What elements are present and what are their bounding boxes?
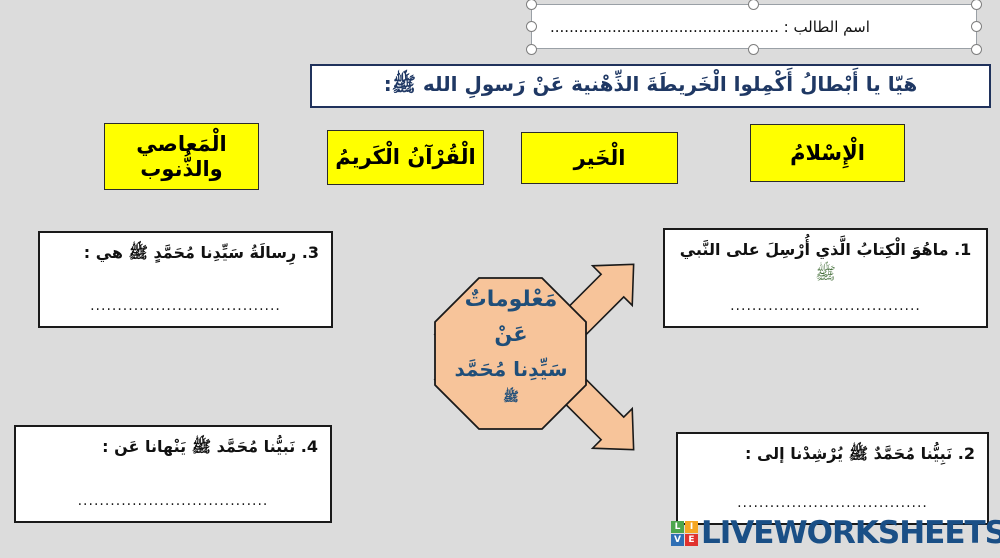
resize-handle-bottom-center[interactable] xyxy=(748,44,759,55)
answer-line-1[interactable]: ................................... xyxy=(677,298,974,320)
mind-map-hub: مَعْلوماتٌ عَنْ سَيِّدِنا مُحَمَّد ﷺ xyxy=(333,238,688,473)
liveworksheets-wordmark: LIVEWORKSHEETS xyxy=(701,518,1000,549)
hub-line-3: سَيِّدِنا مُحَمَّد xyxy=(454,357,567,381)
answer-line-2[interactable]: ................................... xyxy=(690,495,975,517)
question-2-text: 2. نَبِيُّنا مُحَمَّدٌ ﷺ يُرْشِدْنا إلى … xyxy=(690,443,975,465)
logo-tile-v: V xyxy=(671,534,684,546)
page-title: هَيّا يا أَبْطالُ أَكْمِلوا الْخَريطَةَ … xyxy=(384,72,918,101)
question-3-text: 3. رِسالَةُ سَيِّدِنا مُحَمَّدٍ ﷺ هي : xyxy=(52,242,319,264)
keyword-line-1: الْإِسْلامُ xyxy=(790,141,865,165)
keyword-box-islam[interactable]: الْإِسْلامُ xyxy=(750,124,905,182)
worksheet-canvas: اسم الطالب : ...........................… xyxy=(0,0,1000,558)
liveworksheets-logo-icon: L I V E xyxy=(671,521,698,546)
resize-handle-top-right[interactable] xyxy=(971,0,982,10)
question-box-2[interactable]: 2. نَبِيُّنا مُحَمَّدٌ ﷺ يُرْشِدْنا إلى … xyxy=(676,432,989,525)
keyword-line-2: والذُّنوب xyxy=(140,157,222,181)
question-box-3[interactable]: 3. رِسالَةُ سَيِّدِنا مُحَمَّدٍ ﷺ هي : .… xyxy=(38,231,333,328)
keyword-box-quran-kareem[interactable]: الْقُرْآنُ الْكَريمُ xyxy=(327,130,484,185)
keyword-line-1: الْمَعاصي xyxy=(136,132,226,156)
keyword-box-khayr[interactable]: الْخَير xyxy=(521,132,678,184)
logo-tile-i: I xyxy=(685,521,698,533)
student-name-textbox[interactable]: اسم الطالب : ...........................… xyxy=(531,4,977,49)
hub-line-2: عَنْ xyxy=(494,322,527,346)
answer-line-4[interactable]: ................................... xyxy=(28,493,318,515)
student-name-text: اسم الطالب : ...........................… xyxy=(550,18,870,36)
keyword-line-1: الْخَير xyxy=(574,146,626,170)
answer-line-3[interactable]: ................................... xyxy=(52,298,319,320)
pbuh-symbol-icon: ﷺ xyxy=(677,263,974,288)
question-box-4[interactable]: 4. نَبيُّنا مُحَمَّد ﷺ يَنْهانا عَن : ..… xyxy=(14,425,332,523)
keyword-line-1: الْقُرْآنُ الْكَريمُ xyxy=(335,145,475,169)
keyword-box-maasi-wa-dhunub[interactable]: الْمَعاصي والذُّنوب xyxy=(104,123,259,190)
question-1-text: 1. ماهُوَ الْكِتابُ الَّذي أُرْسِلَ على … xyxy=(677,239,974,261)
logo-tile-l: L xyxy=(671,521,684,533)
worksheet-title-banner: هَيّا يا أَبْطالُ أَكْمِلوا الْخَريطَةَ … xyxy=(310,64,991,108)
hub-line-1: مَعْلوماتٌ xyxy=(465,287,558,312)
liveworksheets-watermark: L I V E LIVEWORKSHEETS xyxy=(671,518,1000,549)
question-box-1[interactable]: 1. ماهُوَ الْكِتابُ الَّذي أُرْسِلَ على … xyxy=(663,228,988,328)
resize-handle-bottom-left[interactable] xyxy=(526,44,537,55)
question-4-text: 4. نَبيُّنا مُحَمَّد ﷺ يَنْهانا عَن : xyxy=(28,436,318,458)
logo-tile-e: E xyxy=(685,534,698,546)
resize-handle-middle-right[interactable] xyxy=(971,21,982,32)
resize-handle-middle-left[interactable] xyxy=(526,21,537,32)
resize-handle-bottom-right[interactable] xyxy=(971,44,982,55)
